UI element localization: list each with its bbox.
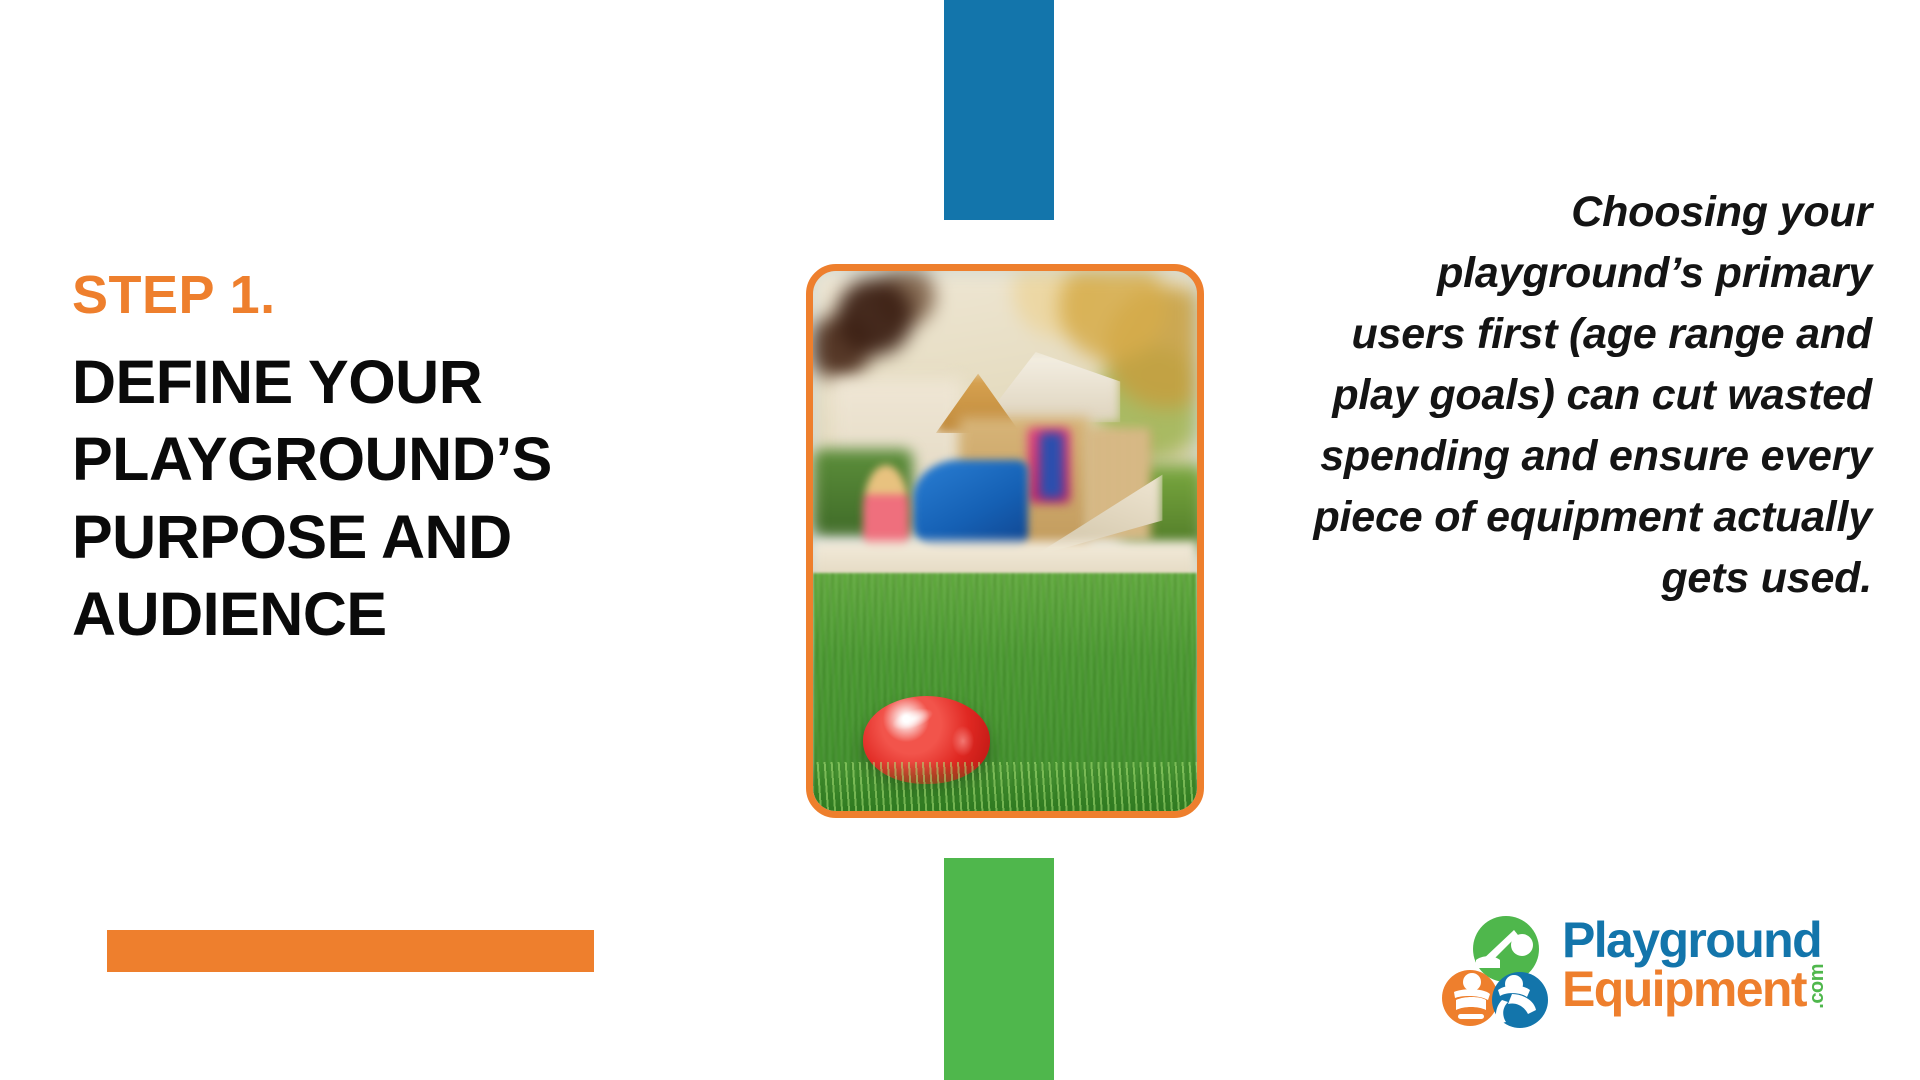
logo-text-dotcom: .com: [1808, 964, 1827, 1009]
photo-card: [806, 264, 1204, 818]
photo-ball-highlight-secondary: [952, 726, 975, 756]
photo-playset-panel-blue: [1040, 433, 1063, 498]
brand-logo[interactable]: Playground Equipment .com: [1442, 910, 1872, 1036]
slide-child-green-icon: [1473, 916, 1539, 982]
body-paragraph: Choosing your playground’s primary users…: [1312, 182, 1872, 609]
logo-wordmark: Playground Equipment .com: [1562, 916, 1874, 1013]
left-orange-underline-bar: [107, 930, 594, 972]
swing-child-orange-icon: [1442, 970, 1498, 1026]
logo-text-equipment: Equipment: [1562, 965, 1806, 1013]
climbing-child-blue-icon: [1492, 972, 1548, 1028]
top-blue-accent-bar: [944, 0, 1054, 220]
photo-grass-foreground: [813, 762, 1197, 811]
step-label: STEP 1.: [72, 268, 772, 322]
slide-canvas: STEP 1. DEFINE YOUR PLAYGROUND’S PURPOSE…: [0, 0, 1920, 1080]
logo-text-playground: Playground: [1562, 916, 1874, 964]
bottom-green-accent-bar: [944, 858, 1054, 1080]
page-title: DEFINE YOUR PLAYGROUND’S PURPOSE AND AUD…: [72, 344, 772, 654]
playground-photo: [813, 271, 1197, 811]
heading-column: STEP 1. DEFINE YOUR PLAYGROUND’S PURPOSE…: [72, 268, 772, 654]
photo-ball-highlight: [889, 704, 935, 734]
body-column: Choosing your playground’s primary users…: [1312, 182, 1872, 609]
logo-mark-group: [1442, 914, 1564, 1032]
